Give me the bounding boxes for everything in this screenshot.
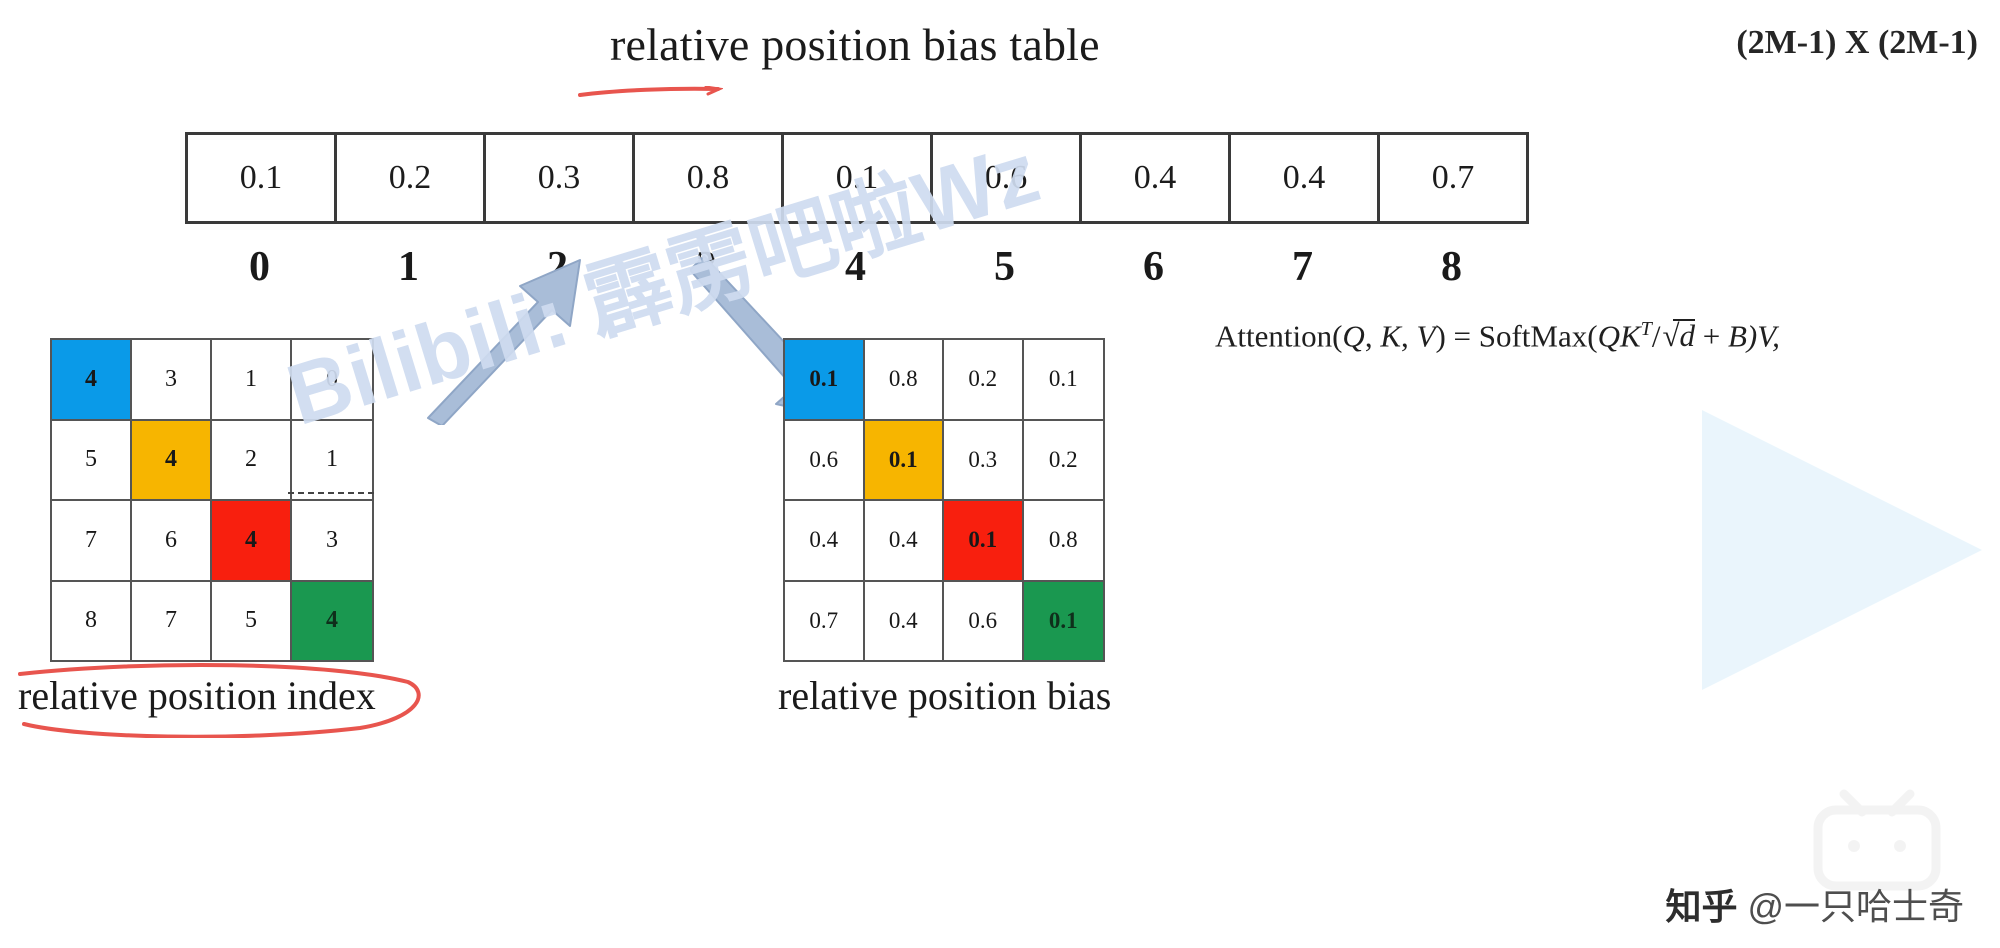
bias-matrix-cell: 0.4 (865, 582, 945, 661)
index-label: 6 (1079, 238, 1228, 296)
zhihu-logo: 知乎 (1665, 886, 1737, 927)
bias-table-cell: 0.8 (635, 135, 784, 221)
bias-matrix-cell: 0.8 (1024, 501, 1104, 582)
relative-position-bias-table: 0.1 0.2 0.3 0.8 0.1 0.6 0.4 0.4 0.7 (185, 132, 1529, 224)
formula-transpose: T (1641, 318, 1652, 340)
index-matrix-cell: 2 (212, 421, 292, 502)
index-matrix-cell: 0 (292, 340, 372, 421)
formula-comma: , (1401, 318, 1417, 353)
relative-position-index-matrix: 4 3 1 0 5 4 2 1 7 6 4 3 8 7 5 4 (50, 338, 374, 662)
bias-matrix-cell: 0.1 (1024, 582, 1104, 661)
bias-table-cell: 0.1 (188, 135, 337, 221)
formula-tail: )V, (1747, 318, 1780, 353)
bias-table-cell: 0.4 (1082, 135, 1231, 221)
formula-v: V (1417, 318, 1436, 353)
index-matrix-cell: 4 (212, 501, 292, 582)
formula-q: Q (1342, 318, 1364, 353)
formula-radicand: d (1680, 318, 1696, 353)
index-matrix-cell: 1 (212, 340, 292, 421)
index-matrix-cell: 7 (132, 582, 212, 661)
bias-matrix-cell: 0.1 (865, 421, 945, 502)
bias-matrix-cell: 0.8 (865, 340, 945, 421)
index-matrix-cell: 6 (132, 501, 212, 582)
bias-matrix-cell: 0.1 (944, 501, 1024, 582)
index-matrix-cell: 1 (292, 421, 372, 502)
bias-matrix-caption: relative position bias (778, 672, 1111, 719)
zhihu-attribution: 知乎@一只哈士奇 (1665, 878, 1964, 930)
bias-matrix-cell: 0.4 (785, 501, 865, 582)
arrow-up-left-icon (420, 250, 590, 425)
formula-lhs: Attention( (1215, 318, 1342, 353)
bias-table-cell: 0.6 (933, 135, 1082, 221)
bias-matrix-cell: 0.2 (944, 340, 1024, 421)
bias-matrix-cell: 0.1 (785, 340, 865, 421)
bias-table-index-row: 0 1 2 3 4 5 6 7 8 (185, 238, 1526, 296)
formula-b: B (1728, 318, 1747, 353)
formula-eq: ) = SoftMax( (1435, 318, 1597, 353)
index-matrix-cell: 4 (292, 582, 372, 661)
bias-table-cell: 0.4 (1231, 135, 1380, 221)
formula-comma: , (1365, 318, 1381, 353)
formula-k: K (1380, 318, 1401, 353)
bias-matrix-cell: 0.4 (865, 501, 945, 582)
index-label: 0 (185, 238, 334, 296)
zhihu-username: @一只哈士奇 (1747, 886, 1964, 927)
index-matrix-cell: 7 (52, 501, 132, 582)
index-matrix-cell: 3 (132, 340, 212, 421)
dimensions-label: (2M-1) X (2M-1) (1736, 24, 1978, 62)
index-matrix-cell: 8 (52, 582, 132, 661)
decorative-triangle-watermark (1692, 400, 1992, 700)
bias-matrix-cell: 0.6 (944, 582, 1024, 661)
bias-matrix-cell: 0.7 (785, 582, 865, 661)
bias-matrix-cell: 0.2 (1024, 421, 1104, 502)
formula-sqrt: √d (1660, 318, 1695, 354)
index-matrix-cell: 4 (52, 340, 132, 421)
page-title: relative position bias table (610, 18, 1100, 71)
formula-plus: + (1695, 318, 1728, 353)
index-label: 8 (1377, 238, 1526, 296)
index-label: 5 (930, 238, 1079, 296)
bias-table-cell: 0.1 (784, 135, 933, 221)
bias-table-cell: 0.2 (337, 135, 486, 221)
index-label: 7 (1228, 238, 1377, 296)
bias-table-cell: 0.3 (486, 135, 635, 221)
dashed-guide-line (288, 492, 374, 496)
index-matrix-cell: 5 (212, 582, 292, 661)
slide-canvas: relative position bias table (2M-1) X (2… (0, 0, 2000, 948)
attention-formula: Attention(Q, K, V) = SoftMax(QKT/√d + B)… (1215, 318, 1780, 354)
bias-matrix-cell: 0.3 (944, 421, 1024, 502)
bias-matrix-cell: 0.6 (785, 421, 865, 502)
index-matrix-cell: 4 (132, 421, 212, 502)
title-underline-annotation (578, 86, 723, 100)
index-matrix-cell: 5 (52, 421, 132, 502)
bias-table-cell: 0.7 (1380, 135, 1526, 221)
formula-qk: QK (1598, 318, 1641, 353)
index-matrix-cell: 3 (292, 501, 372, 582)
formula-slash: / (1652, 318, 1661, 353)
bias-matrix-cell: 0.1 (1024, 340, 1104, 421)
relative-position-bias-matrix: 0.1 0.8 0.2 0.1 0.6 0.1 0.3 0.2 0.4 0.4 … (783, 338, 1105, 662)
index-matrix-caption: relative position index (18, 672, 376, 719)
